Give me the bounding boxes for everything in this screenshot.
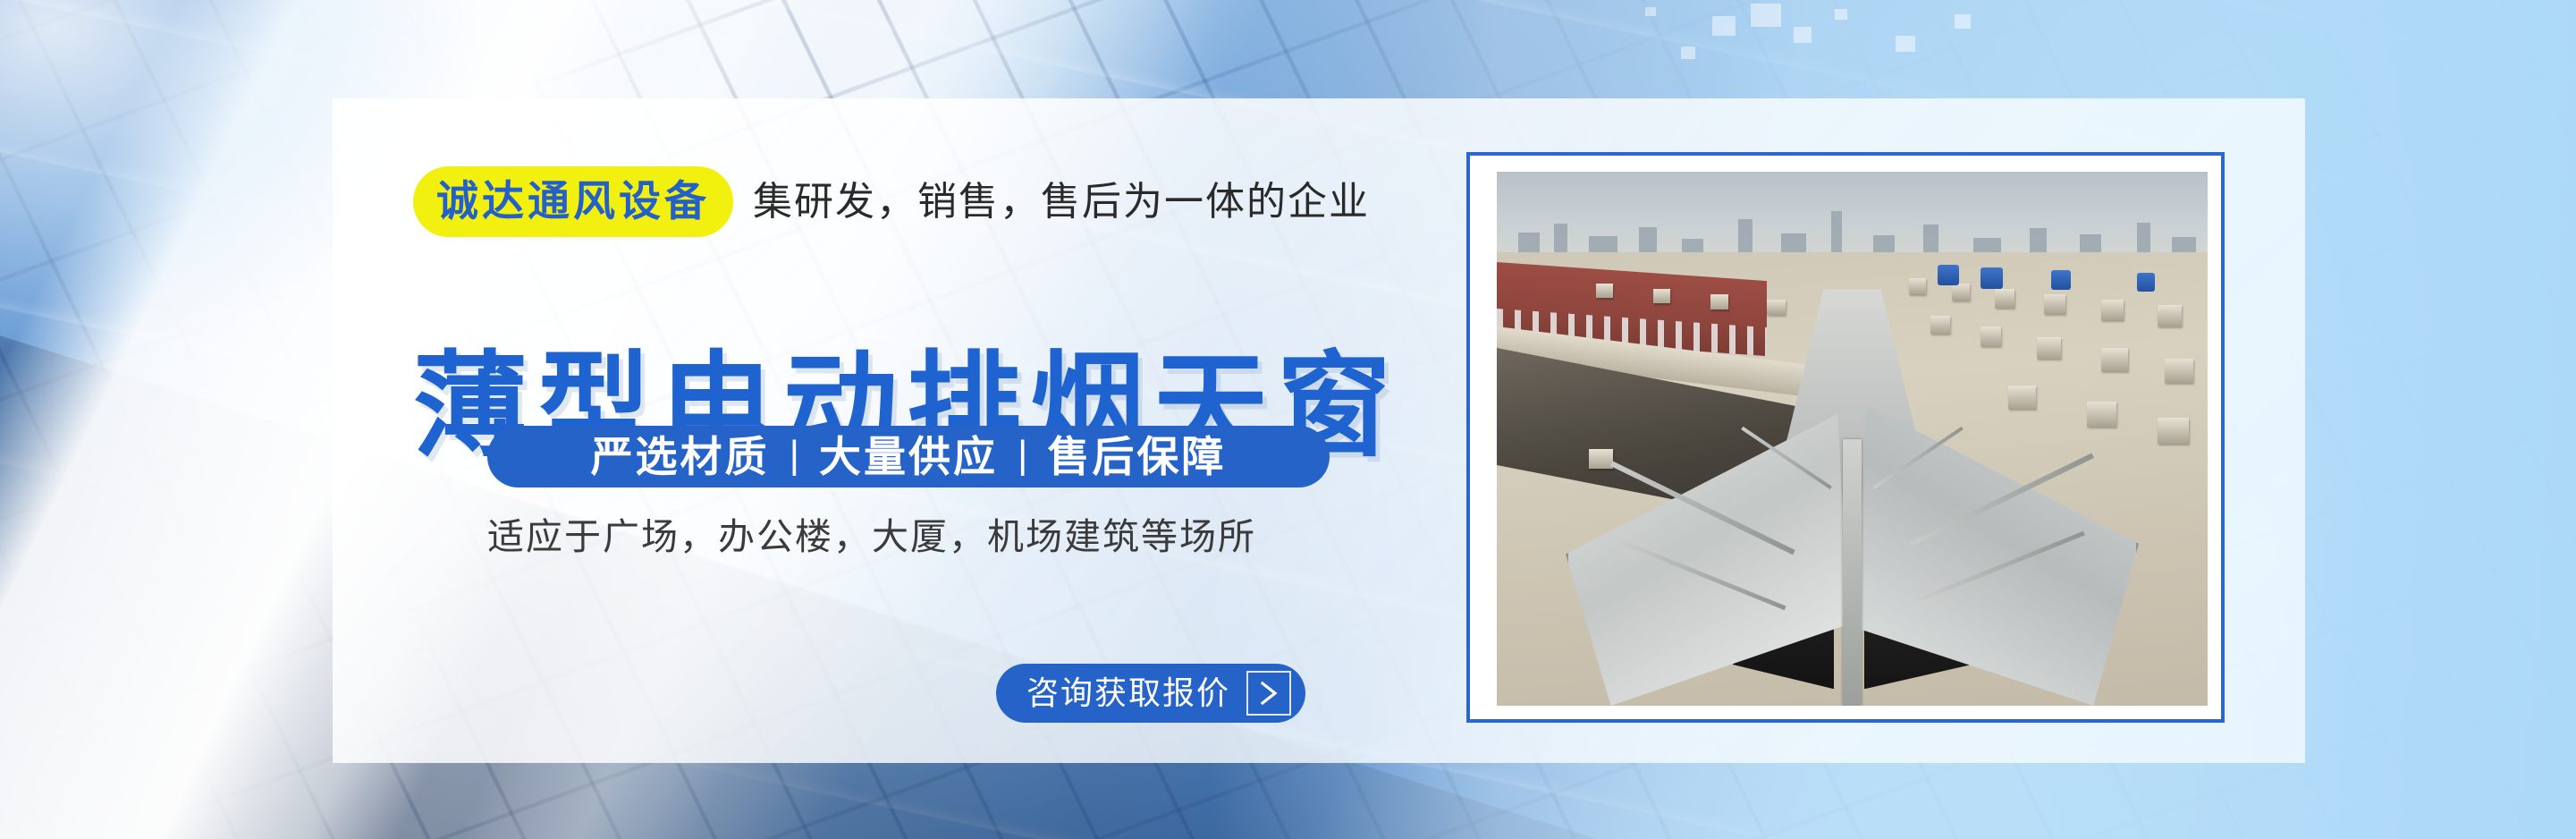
quote-inquiry-label: 咨询获取报价 — [1026, 677, 1230, 709]
promo-banner: 诚达通风设备 集研发，销售，售后为一体的企业 薄型电动排烟天窗 严选材质 | 大… — [0, 0, 2576, 839]
sub-description: 适应于广场，办公楼，大厦，机场建筑等场所 — [487, 519, 1256, 555]
product-photo-frame — [1466, 152, 2225, 723]
feature-separator-2: | — [998, 436, 1047, 475]
photo-roof-vent-2 — [1981, 267, 2003, 289]
quote-inquiry-button[interactable]: 咨询获取报价 — [996, 664, 1305, 723]
feature-item-2: 大量供应 — [819, 436, 998, 478]
photo-skylight-assembly — [1554, 289, 2151, 706]
photo-roof-vent-1 — [1938, 265, 1959, 285]
brand-badge: 诚达通风设备 — [413, 166, 733, 237]
photo-skylight-ridge-beam — [1843, 439, 1862, 706]
feature-pill: 严选材质 | 大量供应 | 售后保障 — [487, 426, 1330, 487]
photo-roof-vent-3 — [2051, 270, 2071, 289]
feature-separator-1: | — [770, 436, 819, 475]
chevron-right-icon — [1246, 671, 1291, 716]
tagline-row: 诚达通风设备 集研发，销售，售后为一体的企业 — [413, 166, 1370, 237]
tagline-slogan: 集研发，销售，售后为一体的企业 — [753, 182, 1370, 222]
feature-item-3: 售后保障 — [1047, 436, 1226, 478]
feature-item-1: 严选材质 — [591, 436, 770, 478]
product-photo — [1497, 172, 2208, 706]
